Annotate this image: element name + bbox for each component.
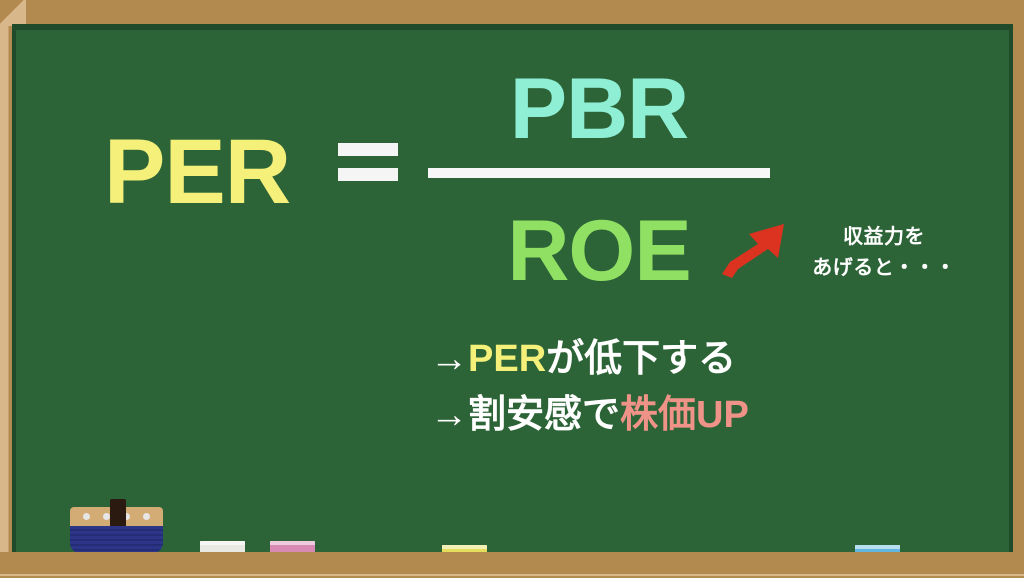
per-term: PER bbox=[104, 126, 290, 218]
chalk-highlight bbox=[442, 545, 487, 549]
conclusion-line-2: →割安感で株価UP bbox=[430, 387, 850, 443]
conclusion-line-1: →PERが低下する bbox=[430, 331, 850, 387]
conclusion-1-arrow: → bbox=[430, 338, 468, 380]
conclusion-1-segment-2: が低下する bbox=[546, 338, 736, 380]
income-power-note: 収益力を あげると・・・ bbox=[784, 222, 984, 284]
pbr-numerator: PBR bbox=[428, 66, 770, 152]
chalk-highlight bbox=[855, 545, 900, 549]
conclusion-1-segment-1: PER bbox=[468, 338, 546, 380]
conclusion-2-arrow: → bbox=[430, 394, 468, 436]
chalk-tray-lip bbox=[0, 574, 1024, 576]
conclusion-2-segment-1: 割安感で bbox=[468, 394, 620, 436]
eraser-dot bbox=[103, 513, 110, 520]
eraser-body bbox=[70, 526, 163, 553]
conclusion-list: →PERが低下する →割安感で株価UP bbox=[430, 331, 850, 443]
note-line-2: あげると・・・ bbox=[784, 253, 984, 284]
equals-sign-icon bbox=[338, 143, 398, 189]
fraction-bar bbox=[428, 168, 770, 178]
chalk-highlight bbox=[270, 541, 315, 545]
blackboard-eraser bbox=[70, 507, 163, 553]
chalkboard-scene: PER PBR ROE 収益力を あげると・・・ →PERが低下する →割安感で… bbox=[0, 0, 1024, 578]
eraser-dot bbox=[143, 513, 150, 520]
eraser-dot bbox=[83, 513, 90, 520]
eraser-handle bbox=[110, 499, 126, 526]
conclusion-2-segment-2: 株価UP bbox=[620, 394, 749, 436]
note-line-1: 収益力を bbox=[784, 222, 984, 253]
chalk-tray bbox=[0, 552, 1024, 578]
chalk-highlight bbox=[200, 541, 245, 545]
formula-group: PER PBR ROE 収益力を あげると・・・ →PERが低下する →割安感で… bbox=[0, 0, 1024, 578]
up-right-arrow-icon bbox=[718, 220, 790, 278]
